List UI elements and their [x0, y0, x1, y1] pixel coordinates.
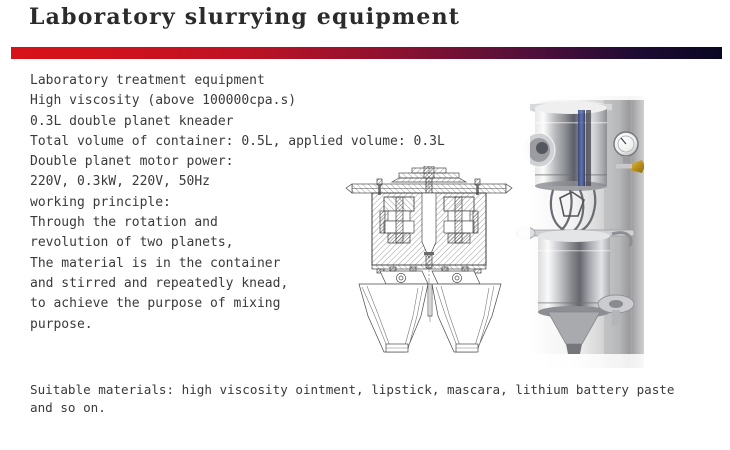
spec-line: and stirred and repeatedly knead,: [30, 274, 360, 294]
page-title: Laboratory slurrying equipment: [29, 4, 460, 30]
gradient-divider-svg: [11, 47, 722, 59]
spec-line: Double planet motor power:: [30, 152, 360, 172]
spec-line: 220V, 0.3kW, 220V, 50Hz: [30, 172, 360, 192]
specification-text-block: Laboratory treatment equipment High visc…: [30, 71, 360, 335]
spec-line: Laboratory treatment equipment: [30, 71, 360, 91]
machine-photo-svg: [508, 78, 658, 368]
gradient-divider: [11, 44, 722, 56]
spec-line: Total volume of container: 0.5L, applied…: [30, 132, 360, 152]
product-info-page: Laboratory slurrying equipment Laborator…: [0, 0, 730, 450]
suitable-materials-note: Suitable materials: high viscosity ointm…: [30, 381, 710, 417]
double-planet-kneader-cross-section-drawing: [344, 166, 516, 358]
spec-line: High viscosity (above 100000cpa.s): [30, 91, 360, 111]
kneader-drawing-svg: [344, 166, 516, 358]
spec-line: 0.3L double planet kneader: [30, 112, 360, 132]
lab-slurrying-machine-photo: [508, 78, 658, 368]
spec-line: to achieve the purpose of mixing: [30, 294, 360, 314]
spec-line: Through the rotation and: [30, 213, 360, 233]
spec-line: revolution of two planets,: [30, 233, 360, 253]
spec-line: purpose.: [30, 315, 360, 335]
note-line: and so on.: [30, 399, 710, 417]
note-line: Suitable materials: high viscosity ointm…: [30, 381, 710, 399]
spec-line: The material is in the container: [30, 254, 360, 274]
spec-line: working principle:: [30, 193, 360, 213]
